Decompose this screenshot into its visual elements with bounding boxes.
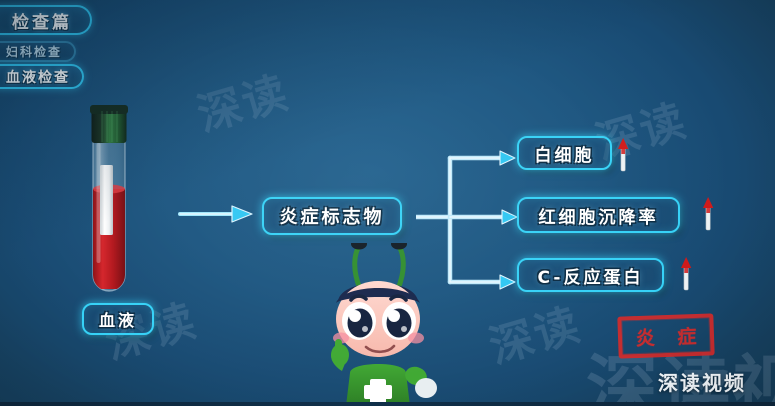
flow-node-inflammation-markers[interactable]: 炎症标志物 xyxy=(262,197,402,235)
flow-node-blood[interactable]: 血液 xyxy=(82,303,154,335)
chapter-tab-blood-label: 血液检查 xyxy=(6,67,70,87)
chapter-tab-header-label: 检查篇 xyxy=(12,8,72,33)
chapter-tab-gynecology-label: 妇科检查 xyxy=(6,43,62,60)
flow-node-white-blood-cells-label: 白细胞 xyxy=(535,141,595,166)
brand-watermark-label: 深读视频 xyxy=(658,367,746,396)
flow-node-white-blood-cells[interactable]: 白细胞 xyxy=(517,136,612,170)
watermark-tilted-3: 深读 xyxy=(481,289,587,376)
chapter-tab-blood[interactable]: 血液检查 xyxy=(0,64,84,89)
flow-node-crp[interactable]: C-反应蛋白 xyxy=(517,258,664,292)
trend-up-arrow-icon-crp xyxy=(680,257,691,295)
flow-node-esr[interactable]: 红细胞沉降率 xyxy=(517,197,680,233)
trend-up-arrow-icon-wbc xyxy=(617,138,628,176)
doctor-mascot-icon xyxy=(302,243,454,406)
bottom-bar xyxy=(0,402,775,406)
flow-node-inflammation-markers-label: 炎症标志物 xyxy=(280,203,385,229)
watermark-tilted-1: 深读 xyxy=(189,57,295,144)
flow-node-crp-label: C-反应蛋白 xyxy=(538,263,644,288)
flow-node-esr-label: 红细胞沉降率 xyxy=(539,203,659,228)
status-badge-label: 炎 症 xyxy=(627,321,705,351)
flow-node-blood-label: 血液 xyxy=(99,307,137,331)
test-tube-icon xyxy=(86,97,132,297)
infographic-canvas: 深读 深读 深读 深读 深读视 xyxy=(0,0,775,406)
status-badge-inflammation: 炎 症 xyxy=(617,313,714,358)
chapter-tab-header[interactable]: 检查篇 xyxy=(0,5,92,35)
chapter-tab-gynecology[interactable]: 妇科检查 xyxy=(0,41,76,62)
trend-up-arrow-icon-esr xyxy=(702,197,713,235)
arrow-right-icon xyxy=(178,203,256,229)
